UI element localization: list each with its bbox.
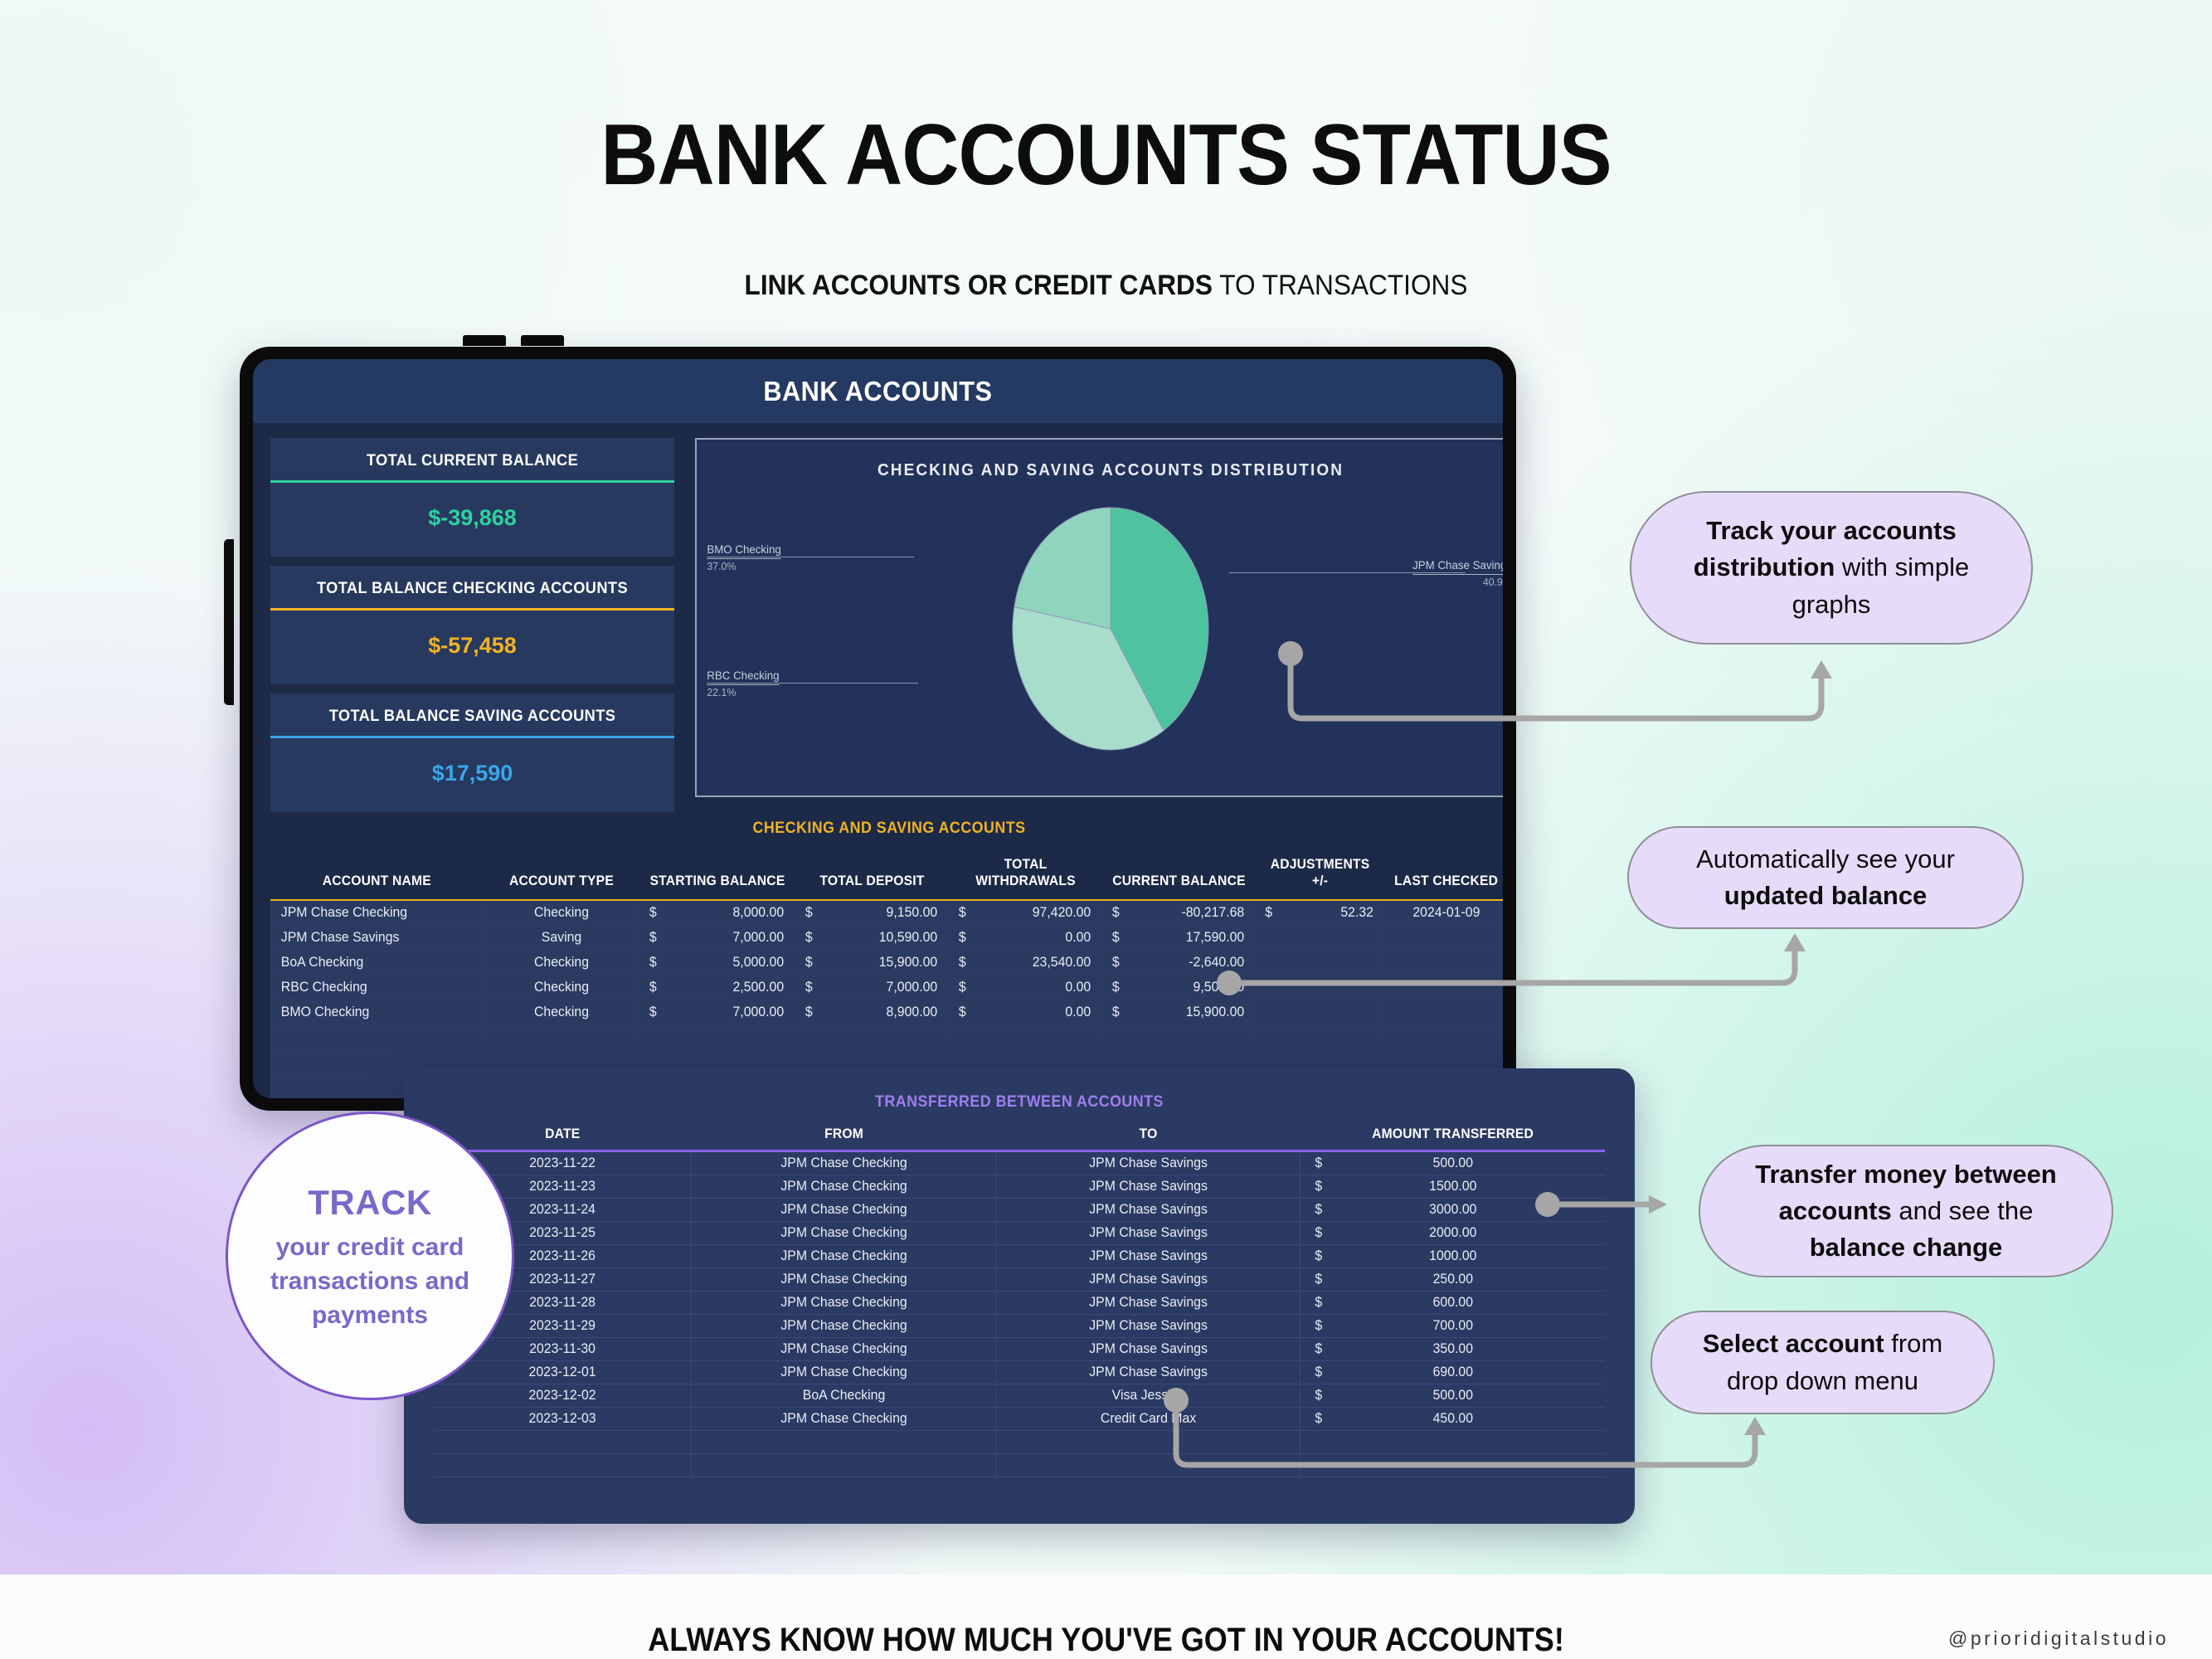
transfer-from: JPM Chase Checking [698,1361,989,1384]
account-type: Checking [486,1000,635,1025]
kpi-value-1: $-57,458 [270,611,674,684]
accounts-table-row[interactable]: RBC CheckingChecking$2,500.00$7,000.00$0… [270,975,1503,1000]
account-name: RBC Checking [275,975,479,1000]
callout-2-bold: updated balance [1724,881,1928,910]
current-balance: $9,500.00 [1105,975,1252,1000]
transfer-from: JPM Chase Checking [698,1292,989,1315]
adjustments: $52.32 [1258,900,1382,926]
transfers-col-2: TO [1004,1125,1293,1151]
page-subtitle-bold: LINK ACCOUNTS OR CREDIT CARDS [745,270,1213,301]
callout-3-bold2: balance change [1810,1233,2003,1262]
pie-label-bmo-name: BMO Checking [707,541,780,559]
transfer-to: Visa Jessica [1002,1384,1294,1408]
transfer-amount: $3000.00 [1306,1199,1598,1222]
total-withdrawals: $23,540.00 [951,951,1099,975]
transfer-amount: $1000.00 [1306,1245,1598,1268]
transfer-amount: $1500.00 [1306,1175,1598,1199]
pie-label-bmo-checking: BMO Checking 37.0% [707,541,780,575]
starting-balance: $2,500.00 [642,975,791,1000]
transfer-amount: $700.00 [1306,1315,1598,1338]
accounts-col-7: LAST CHECKED [1387,853,1503,900]
total-withdrawals: $0.00 [951,1000,1099,1025]
account-name: JPM Chase Checking [275,900,479,926]
transfers-table-header-row: DATEFROMTOAMOUNT TRANSFERRED [434,1125,1605,1151]
kpi-value-2: $17,590 [270,738,674,812]
pie-label-jpm-chase-savings: JPM Chase Savings 40.9% [1412,557,1503,591]
track-badge: TRACK your credit card transactions and … [226,1112,514,1400]
transfers-table-row[interactable]: 2023-11-30JPM Chase CheckingJPM Chase Sa… [434,1338,1605,1361]
last-checked [1387,1000,1503,1025]
accounts-table-section: CHECKING AND SAVING ACCOUNTS ACCOUNT NAM… [270,816,1503,1098]
current-balance: $17,590.00 [1105,926,1252,951]
transfer-date: 2023-12-02 [439,1384,686,1408]
accounts-table-row[interactable]: BoA CheckingChecking$5,000.00$15,900.00$… [270,951,1503,975]
starting-balance: $5,000.00 [642,951,791,975]
accounts-col-5: CURRENT BALANCE [1106,853,1252,900]
transfers-table-row[interactable]: 2023-11-23JPM Chase CheckingJPM Chase Sa… [434,1175,1605,1199]
transfer-from: JPM Chase Checking [698,1222,989,1245]
transfer-amount: $600.00 [1306,1292,1598,1315]
transfer-amount: $450.00 [1306,1408,1598,1431]
track-badge-body: your credit card transactions and paymen… [228,1231,512,1332]
pie-label-rbc-checking: RBC Checking 22.1% [707,667,779,701]
transfer-to: JPM Chase Savings [1002,1361,1294,1384]
kpi-label-1: TOTAL BALANCE CHECKING ACCOUNTS [279,566,667,608]
transfers-col-3: AMOUNT TRANSFERRED [1308,1125,1597,1151]
accounts-col-3: TOTAL DEPOSIT [799,853,945,900]
transfer-to: JPM Chase Savings [1002,1199,1294,1222]
transfer-from: JPM Chase Checking [698,1199,989,1222]
transfer-from: JPM Chase Checking [698,1151,989,1175]
callout-2-pre: Automatically see your [1696,844,1955,873]
accounts-col-2: STARTING BALANCE [643,853,791,900]
last-checked [1387,951,1503,975]
chart-title: CHECKING AND SAVING ACCOUNTS DISTRIBUTIO… [717,461,1503,480]
pie-label-bmo-pct: 37.0% [707,559,780,575]
callout-4-bold: Select account [1703,1329,1884,1358]
adjustments [1258,1000,1382,1025]
transfer-amount: $2000.00 [1306,1222,1598,1245]
transfer-from: JPM Chase Checking [698,1175,989,1199]
transfer-from: BoA Checking [698,1384,989,1408]
total-deposit: $9,150.00 [798,900,946,926]
sheet-title: BANK ACCOUNTS [763,376,992,407]
footer-tagline: ALWAYS KNOW HOW MUCH YOU'VE GOT IN YOUR … [110,1622,2101,1659]
accounts-table-empty-row[interactable] [270,1025,1503,1049]
transfers-table-empty-row[interactable] [434,1454,1605,1477]
pie-label-rbc-pct: 22.1% [707,685,779,701]
transfers-table-row[interactable]: 2023-12-01JPM Chase CheckingJPM Chase Sa… [434,1361,1605,1384]
tablet-device: BANK ACCOUNTS TOTAL CURRENT BALANCE$-39,… [240,347,1516,1111]
transfer-to: JPM Chase Savings [1002,1315,1294,1338]
transfers-card: TRANSFERRED BETWEEN ACCOUNTS DATEFROMTOA… [404,1068,1635,1524]
transfer-to: JPM Chase Savings [1002,1222,1294,1245]
transfer-date: 2023-12-01 [439,1361,686,1384]
starting-balance: $7,000.00 [642,1000,791,1025]
transfers-col-1: FROM [699,1125,989,1151]
transfer-to: JPM Chase Savings [1002,1268,1294,1292]
starting-balance: $7,000.00 [642,926,791,951]
current-balance: $15,900.00 [1105,1000,1252,1025]
sheet-body: TOTAL CURRENT BALANCE$-39,868TOTAL BALAN… [253,423,1503,1098]
account-type: Checking [486,975,635,1000]
transfer-to: JPM Chase Savings [1002,1292,1294,1315]
current-balance: $-2,640.00 [1105,951,1252,975]
callout-track-distribution: Track your accounts distribution with si… [1630,491,2033,645]
tablet-screen: BANK ACCOUNTS TOTAL CURRENT BALANCE$-39,… [253,359,1503,1098]
total-withdrawals: $97,420.00 [951,900,1099,926]
accounts-table: ACCOUNT NAMEACCOUNT TYPESTARTING BALANCE… [270,853,1503,1098]
transfers-table-empty-row[interactable] [434,1431,1605,1454]
account-type: Checking [486,900,635,926]
account-name: JPM Chase Savings [275,926,479,951]
transfers-table: DATEFROMTOAMOUNT TRANSFERRED 2023-11-22J… [434,1125,1605,1477]
callout-3-mid: and see the [1892,1196,2034,1225]
starting-balance: $8,000.00 [642,900,791,926]
transfer-to: JPM Chase Savings [1002,1338,1294,1361]
accounts-col-4: TOTAL WITHDRAWALS [952,853,1098,900]
kpi-card-0: TOTAL CURRENT BALANCE$-39,868 [270,438,674,557]
pie-label-jpm-pct: 40.9% [1412,575,1503,591]
last-checked [1387,975,1503,1000]
total-deposit: $10,590.00 [798,926,946,951]
transfers-table-row[interactable]: 2023-11-27JPM Chase CheckingJPM Chase Sa… [434,1268,1605,1292]
adjustments [1258,951,1382,975]
callout-transfer-money: Transfer money between accounts and see … [1699,1145,2113,1277]
pie-label-rbc-name: RBC Checking [707,667,779,685]
callout-updated-balance: Automatically see your updated balance [1627,826,2024,929]
adjustments [1258,926,1382,951]
total-withdrawals: $0.00 [951,926,1099,951]
page-subtitle-rest: TO TRANSACTIONS [1213,270,1467,301]
accounts-table-row[interactable]: BMO CheckingChecking$7,000.00$8,900.00$0… [270,1000,1503,1025]
page-subtitle: LINK ACCOUNTS OR CREDIT CARDS TO TRANSAC… [77,270,2134,302]
watermark: @prioridigitalstudio [1948,1627,2169,1650]
transfer-from: JPM Chase Checking [698,1245,989,1268]
accounts-table-row[interactable]: JPM Chase SavingsSaving$7,000.00$10,590.… [270,926,1503,951]
accounts-col-0: ACCOUNT NAME [275,853,478,900]
account-type: Saving [486,926,635,951]
total-deposit: $15,900.00 [798,951,946,975]
accounts-table-title: CHECKING AND SAVING ACCOUNTS [308,816,1471,853]
tablet-side-button [224,539,234,705]
transfer-from: JPM Chase Checking [698,1338,989,1361]
adjustments [1258,975,1382,1000]
transfers-table-row[interactable]: 2023-11-25JPM Chase CheckingJPM Chase Sa… [434,1222,1605,1245]
accounts-col-1: ACCOUNT TYPE [487,853,635,900]
transfers-col-0: DATE [440,1125,685,1151]
pie-chart [945,503,1276,772]
page-title: BANK ACCOUNTS STATUS [89,106,2124,205]
tablet-top-buttons [239,335,1515,347]
current-balance: $-80,217.68 [1105,900,1252,926]
transfers-table-row[interactable]: 2023-12-02BoA CheckingVisa Jessica$500.0… [434,1384,1605,1408]
total-deposit: $7,000.00 [798,975,946,1000]
kpi-column: TOTAL CURRENT BALANCE$-39,868TOTAL BALAN… [270,438,674,821]
transfers-table-row[interactable]: 2023-12-03JPM Chase CheckingCredit Card … [434,1408,1605,1431]
transfers-table-row[interactable]: 2023-11-26JPM Chase CheckingJPM Chase Sa… [434,1245,1605,1268]
transfer-amount: $690.00 [1306,1361,1598,1384]
accounts-col-6: ADJUSTMENTS +/- [1258,853,1380,900]
kpi-card-2: TOTAL BALANCE SAVING ACCOUNTS$17,590 [270,693,674,812]
transfer-to: Credit Card Max [1002,1408,1294,1431]
kpi-label-0: TOTAL CURRENT BALANCE [279,438,667,480]
callout-select-account: Select account from drop down menu [1650,1311,1995,1414]
transfer-to: JPM Chase Savings [1002,1175,1294,1199]
pie-chart-svg [945,503,1276,768]
transfers-table-row[interactable]: 2023-11-24JPM Chase CheckingJPM Chase Sa… [434,1199,1605,1222]
account-name: BMO Checking [275,1000,479,1025]
kpi-value-0: $-39,868 [270,483,674,557]
transfer-amount: $250.00 [1306,1268,1598,1292]
transfer-to: JPM Chase Savings [1002,1245,1294,1268]
transfer-to: JPM Chase Savings [1002,1151,1294,1175]
accounts-distribution-chart-panel: CHECKING AND SAVING ACCOUNTS DISTRIBUTIO… [695,438,1503,797]
transfer-amount: $500.00 [1306,1384,1598,1408]
transfer-date: 2023-12-03 [439,1408,686,1431]
transfer-amount: $500.00 [1306,1151,1598,1175]
sheet-header: BANK ACCOUNTS [253,359,1503,423]
pie-label-jpm-name: JPM Chase Savings [1412,557,1503,575]
transfers-table-row[interactable]: 2023-11-28JPM Chase CheckingJPM Chase Sa… [434,1292,1605,1315]
accounts-table-header-row: ACCOUNT NAMEACCOUNT TYPESTARTING BALANCE… [270,853,1503,900]
account-type: Checking [486,951,635,975]
transfer-from: JPM Chase Checking [698,1408,989,1431]
transfer-amount: $350.00 [1306,1338,1598,1361]
transfer-from: JPM Chase Checking [698,1268,989,1292]
transfers-table-body: 2023-11-22JPM Chase CheckingJPM Chase Sa… [434,1151,1605,1477]
total-deposit: $8,900.00 [798,1000,946,1025]
total-withdrawals: $0.00 [951,975,1099,1000]
transfers-table-row[interactable]: 2023-11-29JPM Chase CheckingJPM Chase Sa… [434,1315,1605,1338]
last-checked [1387,926,1503,951]
accounts-table-row[interactable]: JPM Chase CheckingChecking$8,000.00$9,15… [270,900,1503,926]
kpi-card-1: TOTAL BALANCE CHECKING ACCOUNTS$-57,458 [270,566,674,684]
account-name: BoA Checking [275,951,479,975]
transfers-table-row[interactable]: 2023-11-22JPM Chase CheckingJPM Chase Sa… [434,1151,1605,1175]
transfer-from: JPM Chase Checking [698,1315,989,1338]
kpi-label-2: TOTAL BALANCE SAVING ACCOUNTS [279,693,667,736]
transfers-title: TRANSFERRED BETWEEN ACCOUNTS [469,1085,1569,1125]
last-checked: 2024-01-09 [1387,900,1503,926]
track-badge-kicker: TRACK [308,1179,431,1226]
